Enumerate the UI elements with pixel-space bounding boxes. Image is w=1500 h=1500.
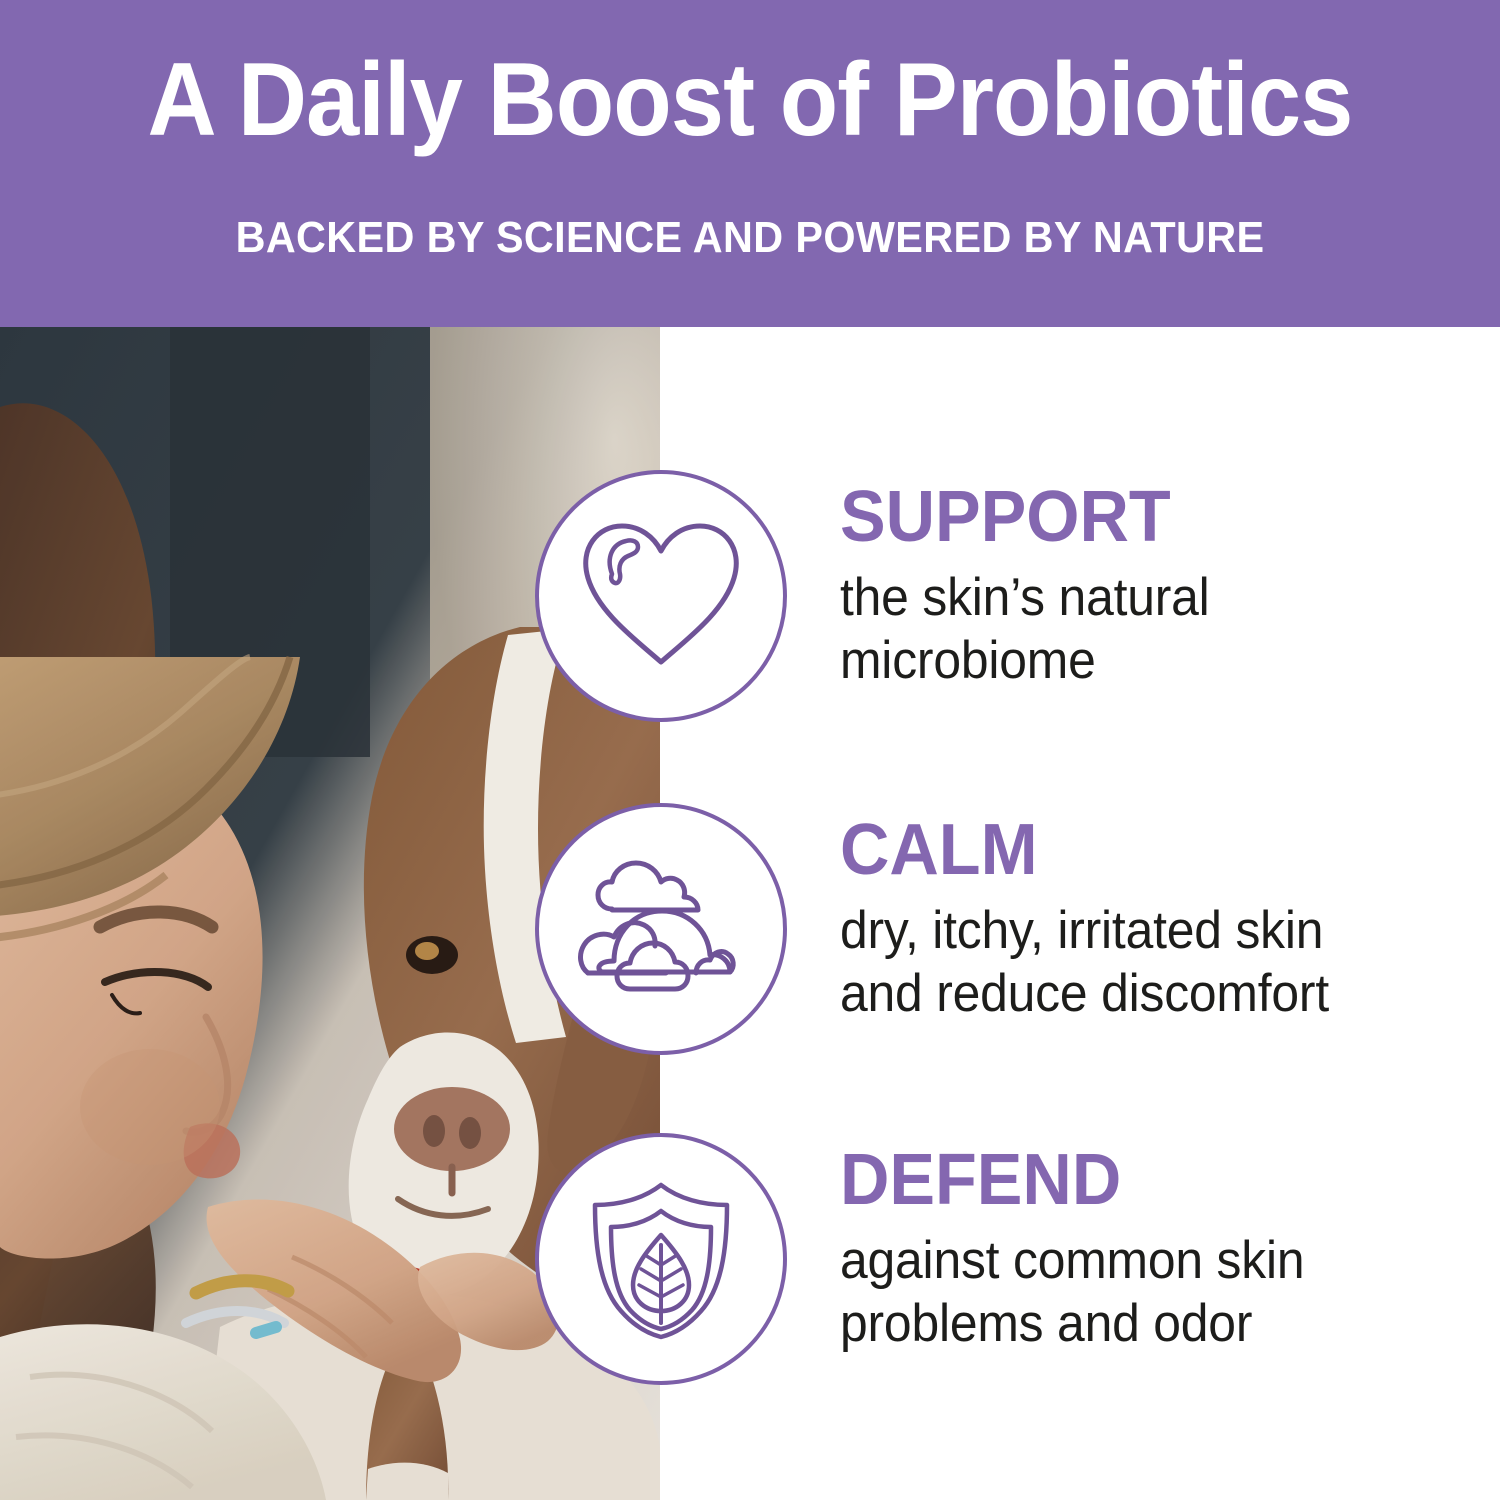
benefit-description: dry, itchy, irritated skin and reduce di…: [840, 899, 1442, 1025]
benefit-text-support: SUPPORT the skin’s natural microbiome: [840, 478, 1480, 692]
header-banner: A Daily Boost of Probiotics BACKED BY SC…: [0, 0, 1500, 327]
benefit-title: CALM: [840, 811, 1448, 889]
benefit-description: the skin’s natural microbiome: [840, 566, 1442, 692]
benefit-title: SUPPORT: [840, 478, 1448, 556]
benefits-list: SUPPORT the skin’s natural microbiome: [660, 327, 1500, 1500]
infographic-page: A Daily Boost of Probiotics BACKED BY SC…: [0, 0, 1500, 1500]
shield-leaf-icon: [535, 1133, 787, 1385]
heart-icon: [535, 470, 787, 722]
page-subtitle: BACKED BY SCIENCE AND POWERED BY NATURE: [45, 212, 1455, 264]
page-title: A Daily Boost of Probiotics: [60, 44, 1440, 156]
benefit-description: against common skin problems and odor: [840, 1229, 1442, 1355]
benefit-text-calm: CALM dry, itchy, irritated skin and redu…: [840, 811, 1480, 1025]
benefit-text-defend: DEFEND against common skin problems and …: [840, 1141, 1480, 1355]
clouds-icon: [535, 803, 787, 1055]
benefit-title: DEFEND: [840, 1141, 1448, 1219]
